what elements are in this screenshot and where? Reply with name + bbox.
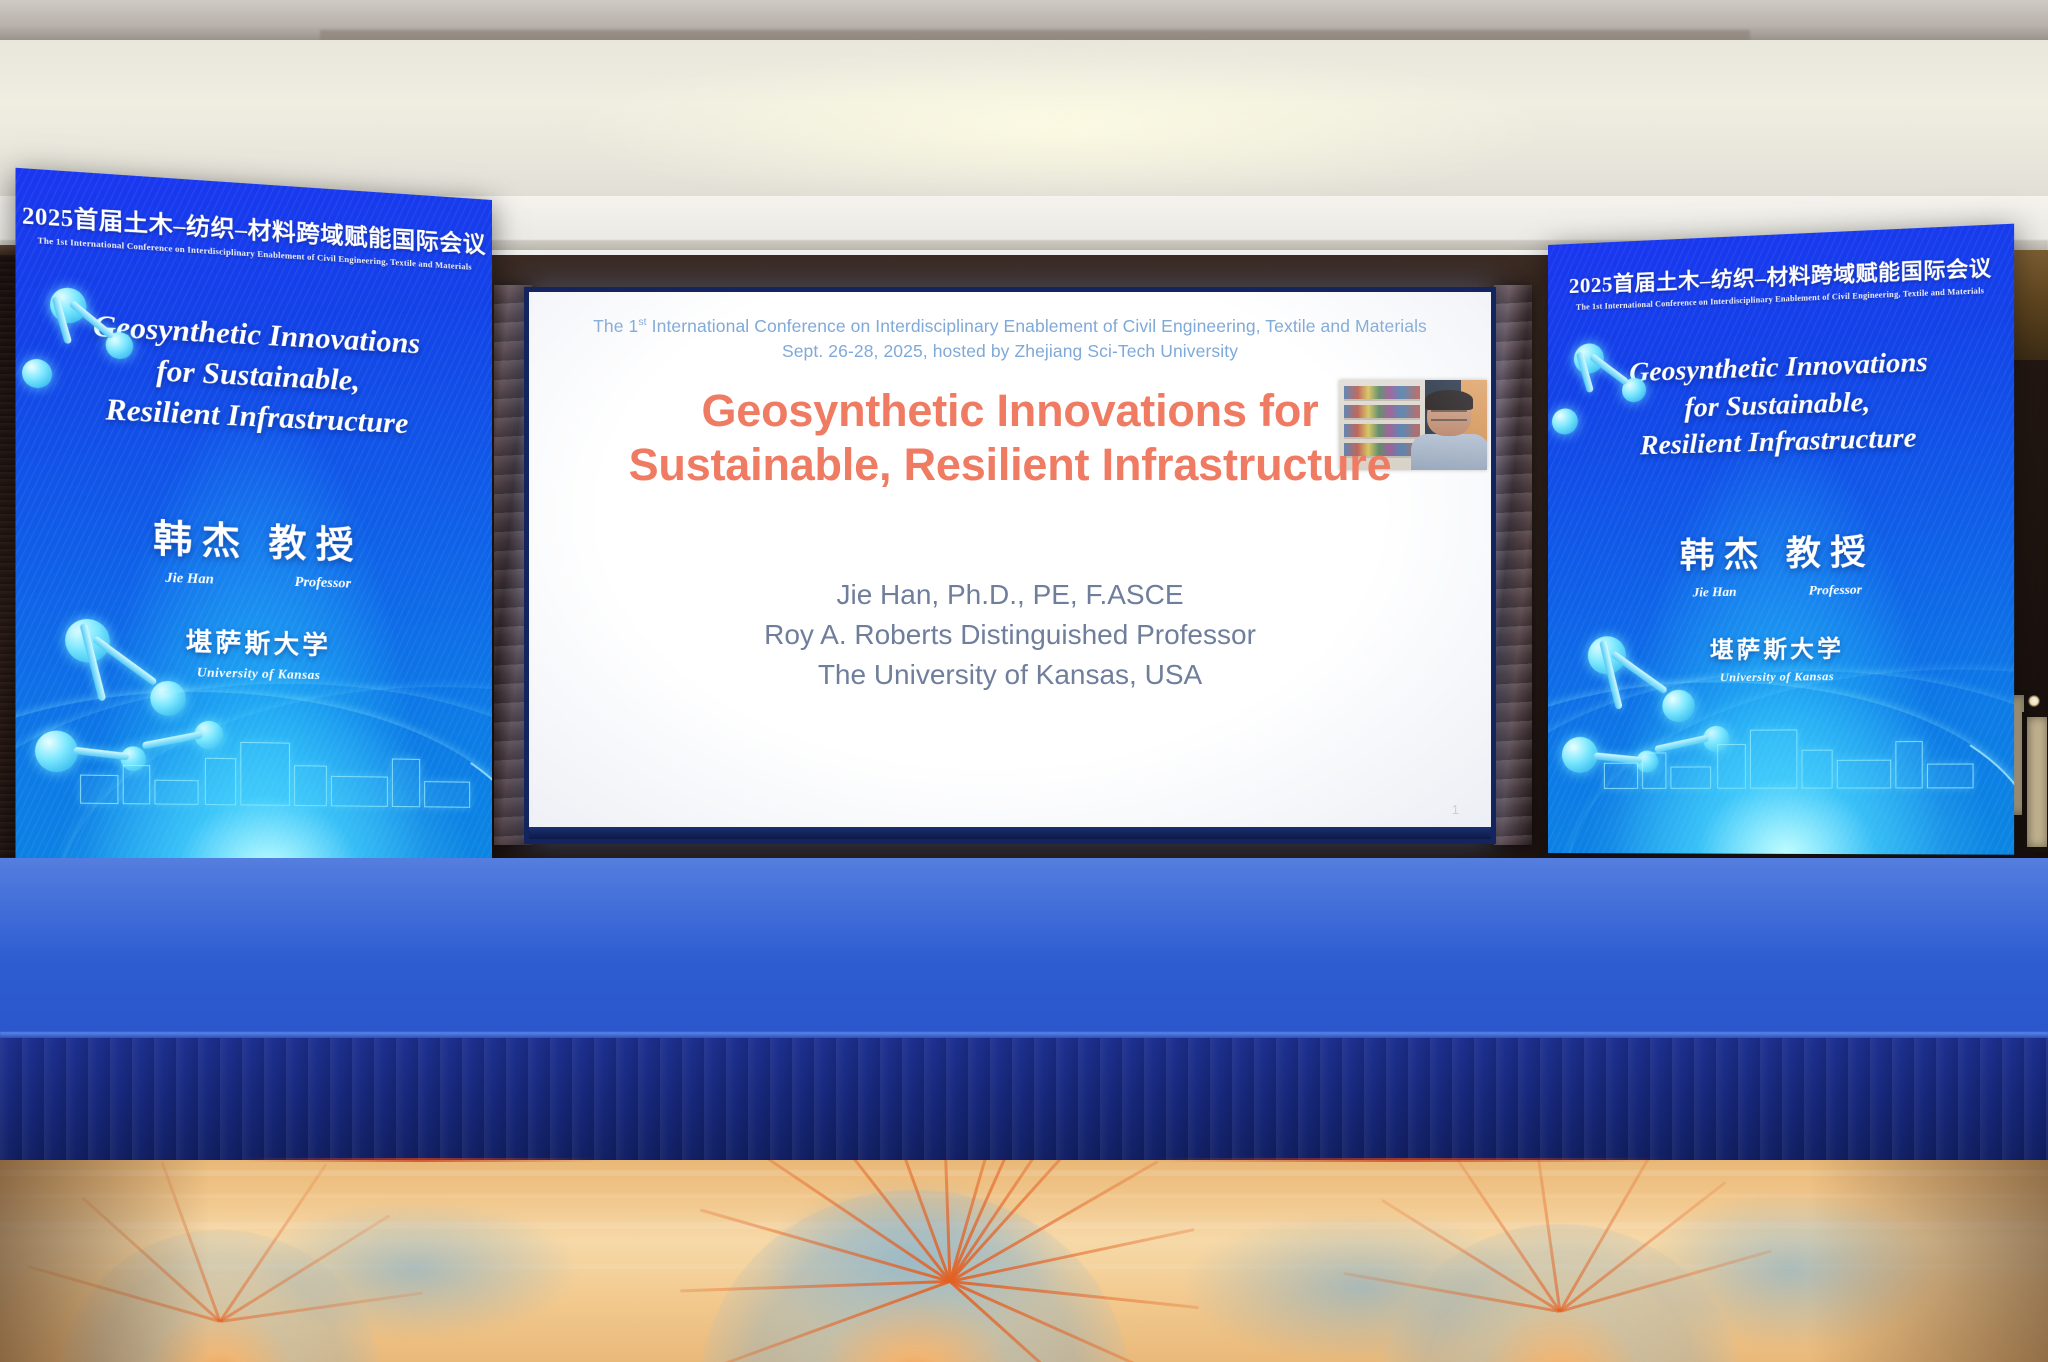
- stage-skirt: [0, 1038, 2048, 1164]
- author-name: Jie Han, Ph.D., PE, F.ASCE: [529, 575, 1491, 615]
- screen-bottom-bar: [529, 827, 1491, 839]
- stage-pillar-right: [1494, 285, 1532, 845]
- right-wall-decor-panel: [2022, 712, 2048, 852]
- wall-spotlight: [2028, 695, 2040, 707]
- speaker-name-cn: 韩杰 教授: [1548, 520, 2014, 580]
- carpet-red-trim: [240, 1158, 600, 1162]
- slide-title-line2: Sustainable, Resilient Infrastructure: [529, 438, 1491, 492]
- stage-platform-top: [0, 858, 2048, 1038]
- banner-speaker-right: 韩杰 教授 Jie Han Professor: [1548, 520, 2014, 603]
- ordinal-superscript: st: [638, 316, 646, 328]
- speaker-name-en: Jie Han: [165, 571, 214, 589]
- speaker-name-en: Jie Han: [1693, 584, 1737, 601]
- author-affiliation: The University of Kansas, USA: [529, 655, 1491, 695]
- conference-banner-right: 2025首届土木–纺织–材料跨域赋能国际会议 The 1st Internati…: [1548, 224, 2014, 855]
- author-title: Roy A. Roberts Distinguished Professor: [529, 615, 1491, 655]
- carpet-red-trim: [1150, 1158, 1670, 1162]
- slide-header-text: The 1st International Conference on Inte…: [529, 314, 1491, 364]
- banner-speaker-left: 韩杰 教授 Jie Han Professor: [15, 502, 492, 597]
- slide-header-line2: Sept. 26-28, 2025, hosted by Zhejiang Sc…: [529, 339, 1491, 364]
- banner-title-left: Geosynthetic Innovations for Sustainable…: [15, 301, 492, 447]
- slide-author-block: Jie Han, Ph.D., PE, F.ASCE Roy A. Robert…: [529, 575, 1491, 694]
- speaker-role-en: Professor: [1809, 581, 1862, 598]
- ballroom-carpet: [0, 1160, 2048, 1362]
- conference-stage-scene: The 1st International Conference on Inte…: [0, 0, 2048, 1362]
- banner-title-right: Geosynthetic Innovations for Sustainable…: [1548, 340, 2014, 467]
- presentation-slide[interactable]: The 1st International Conference on Inte…: [529, 292, 1491, 839]
- slide-title-line1: Geosynthetic Innovations for: [529, 384, 1491, 438]
- screen-vignette: [529, 292, 1491, 839]
- slide-page-number: 1: [1452, 802, 1459, 817]
- speaker-role-en: Professor: [295, 575, 352, 593]
- slide-title: Geosynthetic Innovations for Sustainable…: [529, 384, 1491, 491]
- carpet-shadow-left: [0, 1160, 210, 1362]
- led-screen-frame: The 1st International Conference on Inte…: [524, 287, 1496, 844]
- conference-banner-left: 2025首届土木–纺织–材料跨域赋能国际会议 The 1st Internati…: [15, 168, 492, 872]
- banner-university-left: 堪萨斯大学 University of Kansas: [15, 617, 492, 687]
- carpet-shadow-right: [1808, 1160, 2048, 1362]
- ceiling-cove-glow: [560, 52, 1560, 202]
- university-cn: 堪萨斯大学: [1548, 626, 2014, 667]
- slide-header-line1: The 1st International Conference on Inte…: [529, 314, 1491, 339]
